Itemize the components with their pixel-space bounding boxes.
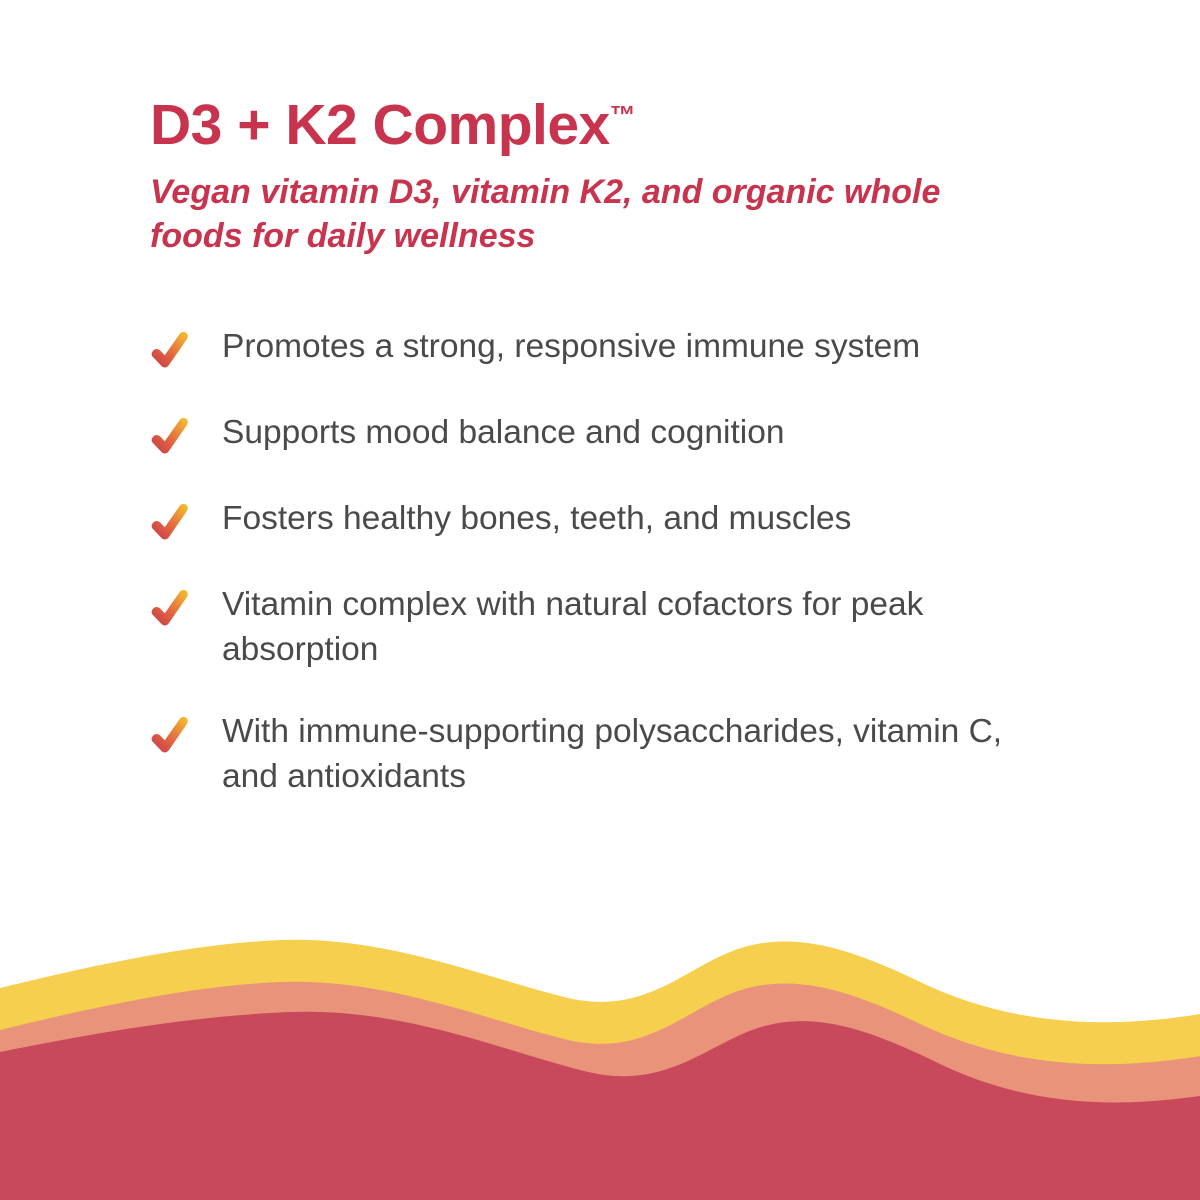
list-item-label: Supports mood balance and cognition <box>222 411 784 456</box>
check-icon <box>148 329 192 373</box>
list-item-label: Fosters healthy bones, teeth, and muscle… <box>222 497 851 542</box>
decorative-wave-graphic <box>0 910 1200 1200</box>
check-icon <box>148 714 192 758</box>
benefits-list: Promotes a strong, responsive immune sys… <box>148 325 1068 799</box>
list-item: Promotes a strong, responsive immune sys… <box>148 325 1068 373</box>
list-item: Vitamin complex with natural cofactors f… <box>148 583 1068 672</box>
check-icon <box>148 501 192 545</box>
list-item-label: Promotes a strong, responsive immune sys… <box>222 325 920 370</box>
list-item: Supports mood balance and cognition <box>148 411 1068 459</box>
product-subtitle: Vegan vitamin D3, vitamin K2, and organi… <box>150 170 980 258</box>
list-item: With immune-supporting polysaccharides, … <box>148 710 1068 799</box>
list-item-label: Vitamin complex with natural cofactors f… <box>222 583 1042 672</box>
product-title-text: D3 + K2 Complex <box>150 93 610 157</box>
check-icon <box>148 587 192 631</box>
product-benefits-card: D3 + K2 Complex™ Vegan vitamin D3, vitam… <box>0 0 1200 1200</box>
page-title: D3 + K2 Complex™ <box>150 96 1050 156</box>
check-icon <box>148 415 192 459</box>
header: D3 + K2 Complex™ Vegan vitamin D3, vitam… <box>150 96 1050 258</box>
list-item-label: With immune-supporting polysaccharides, … <box>222 710 1042 799</box>
trademark-symbol: ™ <box>610 100 636 130</box>
list-item: Fosters healthy bones, teeth, and muscle… <box>148 497 1068 545</box>
